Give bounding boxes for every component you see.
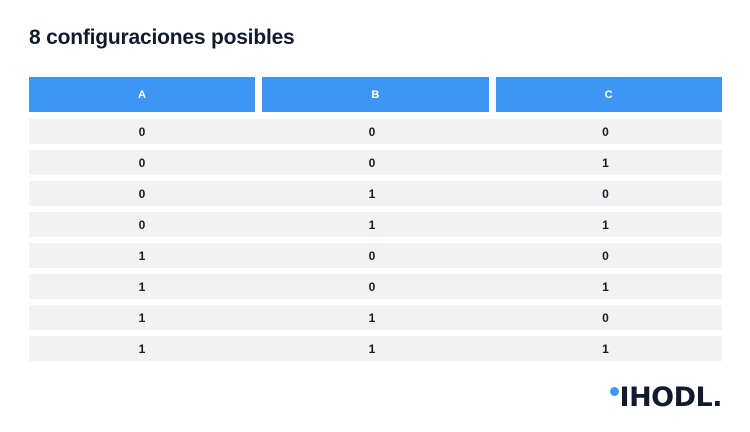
cell-b: 1 [255, 181, 489, 206]
cell-c: 1 [489, 212, 722, 237]
table-row: 1 1 0 [29, 305, 722, 330]
table-header-row: A B C [29, 77, 722, 112]
cell-a: 0 [29, 150, 255, 175]
table-row: 0 0 1 [29, 150, 722, 175]
cell-b: 0 [255, 243, 489, 268]
cell-a: 1 [29, 274, 255, 299]
cell-b: 1 [255, 212, 489, 237]
cell-a: 0 [29, 212, 255, 237]
truth-table: A B C 0 0 0 0 0 1 0 1 0 0 1 [29, 77, 722, 361]
table-row: 0 0 0 [29, 119, 722, 144]
cell-b: 1 [255, 336, 489, 361]
cell-c: 1 [489, 150, 722, 175]
column-header-b: B [262, 77, 488, 112]
page-title: 8 configuraciones posibles [29, 25, 295, 51]
column-header-c: C [496, 77, 722, 112]
column-header-a: A [29, 77, 255, 112]
slide-canvas: 8 configuraciones posibles A B C 0 0 0 0… [0, 0, 750, 432]
cell-c: 0 [489, 243, 722, 268]
table-row: 1 0 0 [29, 243, 722, 268]
cell-b: 0 [255, 150, 489, 175]
cell-c: 1 [489, 274, 722, 299]
cell-c: 0 [489, 305, 722, 330]
table-row: 1 1 1 [29, 336, 722, 361]
cell-a: 0 [29, 119, 255, 144]
table-row: 1 0 1 [29, 274, 722, 299]
cell-c: 0 [489, 119, 722, 144]
dot-icon [610, 387, 619, 396]
cell-b: 1 [255, 305, 489, 330]
logo-wordmark: IHODL. [620, 384, 722, 411]
cell-a: 1 [29, 336, 255, 361]
table-body: 0 0 0 0 0 1 0 1 0 0 1 1 1 0 [29, 119, 722, 361]
cell-c: 1 [489, 336, 722, 361]
cell-a: 1 [29, 305, 255, 330]
cell-c: 0 [489, 181, 722, 206]
cell-a: 1 [29, 243, 255, 268]
cell-b: 0 [255, 274, 489, 299]
ihodl-logo: IHODL. [610, 383, 722, 411]
cell-b: 0 [255, 119, 489, 144]
table-row: 0 1 0 [29, 181, 722, 206]
cell-a: 0 [29, 181, 255, 206]
table-row: 0 1 1 [29, 212, 722, 237]
